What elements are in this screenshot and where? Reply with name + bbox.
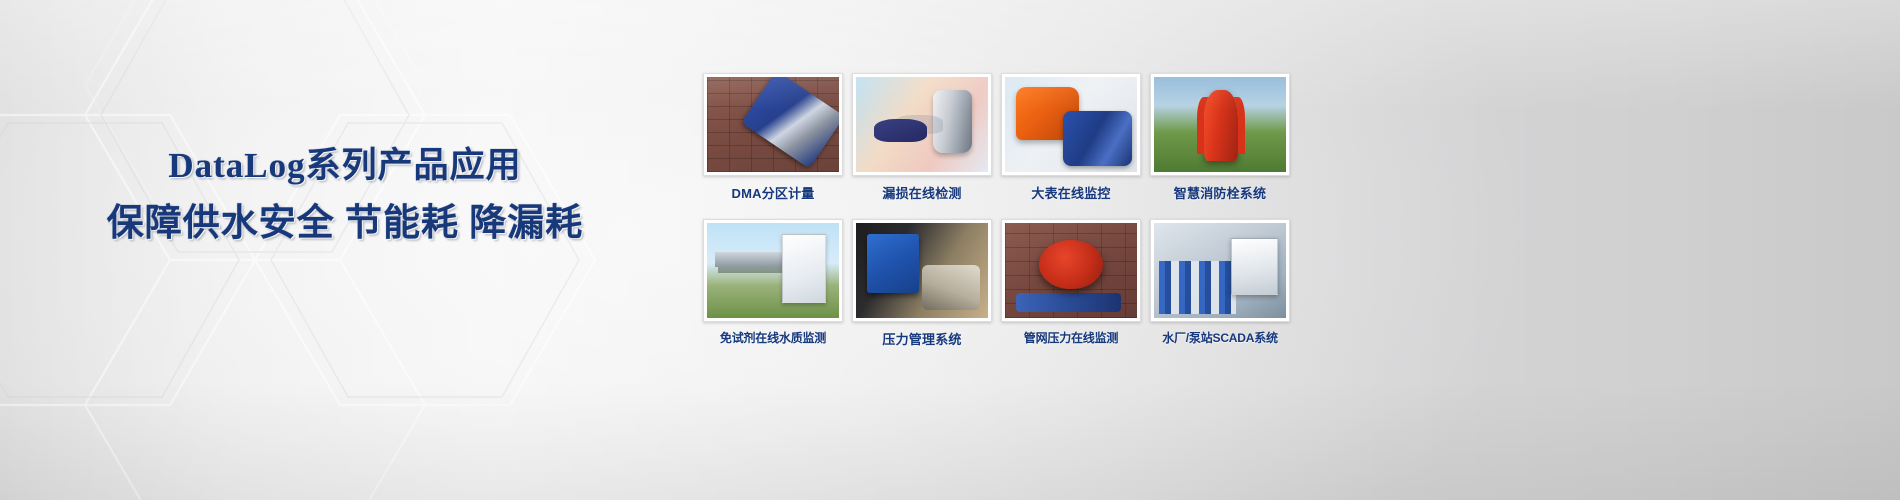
product-caption: DMA分区计量 xyxy=(703,183,843,202)
product-thumbnail[interactable] xyxy=(703,73,843,176)
leak-detection-loggers-photo xyxy=(856,77,988,172)
large-meter-monitoring-photo xyxy=(1005,77,1137,172)
product-caption: 智慧消防栓系统 xyxy=(1150,183,1290,202)
product-tile[interactable]: DMA分区计量 xyxy=(703,73,843,202)
hexagon-watermark-icon xyxy=(0,0,700,500)
product-caption: 大表在线监控 xyxy=(1001,183,1141,202)
product-thumbnail[interactable] xyxy=(1001,219,1141,322)
waterworks-scada-photo xyxy=(1154,223,1286,318)
headline-line-2: 保障供水安全 节能耗 降漏耗 xyxy=(0,205,690,242)
product-tile[interactable]: 大表在线监控 xyxy=(1001,73,1141,202)
product-caption: 管网压力在线监测 xyxy=(1001,329,1141,346)
product-caption: 免试剂在线水质监测 xyxy=(703,329,843,346)
product-caption: 压力管理系统 xyxy=(852,329,992,348)
smart-fire-hydrant-photo xyxy=(1154,77,1286,172)
product-tile[interactable]: 压力管理系统 xyxy=(852,219,992,348)
product-caption: 漏损在线检测 xyxy=(852,183,992,202)
headline-line-1: DataLog系列产品应用 xyxy=(0,148,690,183)
product-tile[interactable]: 智慧消防栓系统 xyxy=(1150,73,1290,202)
promo-banner: DataLog系列产品应用 保障供水安全 节能耗 降漏耗 DMA分区计量 漏损在… xyxy=(0,0,1900,500)
water-quality-station-photo xyxy=(707,223,839,318)
dma-metering-valve-photo xyxy=(707,77,839,172)
product-thumbnail[interactable] xyxy=(1001,73,1141,176)
headline-block: DataLog系列产品应用 保障供水安全 节能耗 降漏耗 xyxy=(0,148,690,242)
product-thumbnail[interactable] xyxy=(1150,73,1290,176)
pressure-management-cabinet-photo xyxy=(856,223,988,318)
product-thumbnail[interactable] xyxy=(852,73,992,176)
product-thumbnail[interactable] xyxy=(1150,219,1290,322)
product-tile[interactable]: 漏损在线检测 xyxy=(852,73,992,202)
product-thumbnail[interactable] xyxy=(852,219,992,322)
product-tile[interactable]: 水厂/泵站SCADA系统 xyxy=(1150,219,1290,348)
product-tile[interactable]: 管网压力在线监测 xyxy=(1001,219,1141,348)
product-caption: 水厂/泵站SCADA系统 xyxy=(1150,329,1290,346)
product-thumbnail[interactable] xyxy=(703,219,843,322)
product-tile[interactable]: 免试剂在线水质监测 xyxy=(703,219,843,348)
product-tile-grid: DMA分区计量 漏损在线检测 大表在线监控 智慧消防栓系统 免试剂在线水质监测 xyxy=(703,73,1290,348)
pipe-pressure-monitor-photo xyxy=(1005,223,1137,318)
